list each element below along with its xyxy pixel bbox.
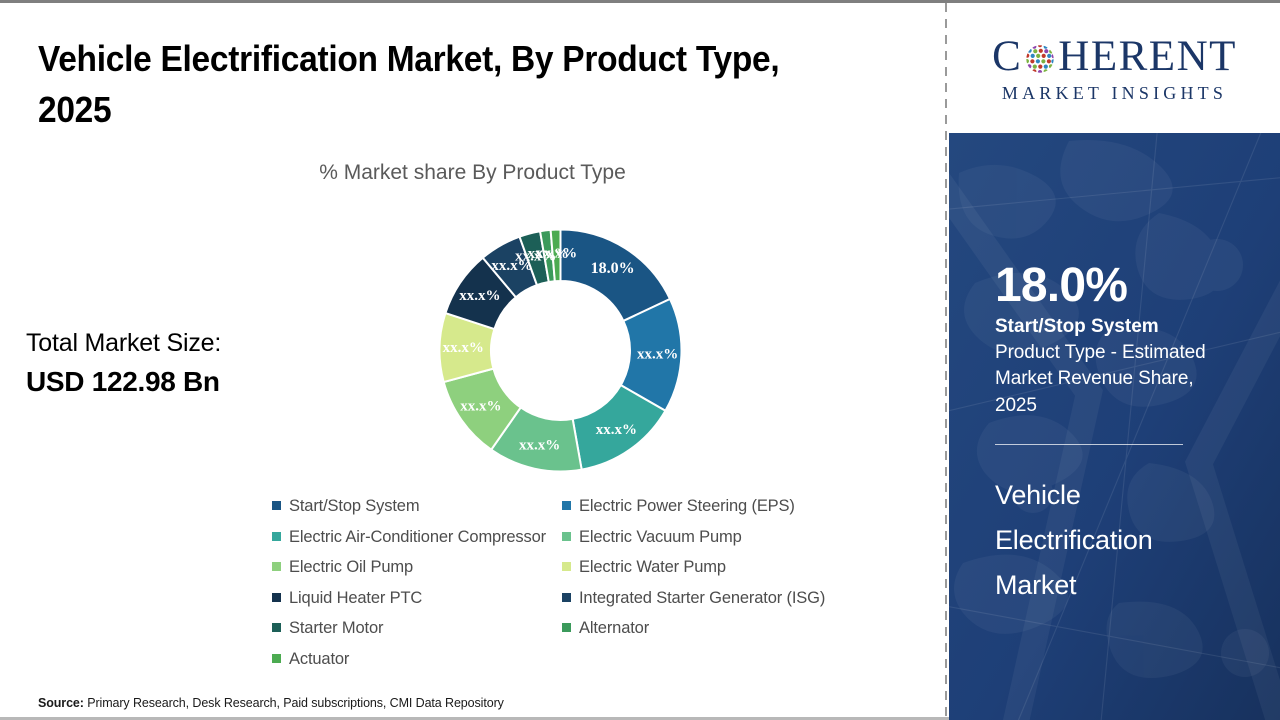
legend-item[interactable]: Alternator <box>562 620 892 637</box>
legend-swatch-icon <box>562 501 571 510</box>
legend-swatch-icon <box>562 562 571 571</box>
infographic-root: Vehicle Electrification Market, By Produ… <box>0 0 1280 720</box>
legend-item-label: Electric Power Steering (EPS) <box>579 498 795 515</box>
source-text: Primary Research, Desk Research, Paid su… <box>84 696 504 710</box>
legend-row: Liquid Heater PTCIntegrated Starter Gene… <box>272 590 892 621</box>
donut-slice-label: xx.x% <box>519 437 560 453</box>
legend-item[interactable]: Liquid Heater PTC <box>272 590 562 607</box>
donut-slice-label: xx.x% <box>460 398 501 414</box>
highlight-market-name: Vehicle Electrification Market <box>995 473 1250 607</box>
donut-slice-label: xx.x% <box>536 245 577 261</box>
legend-item-label: Alternator <box>579 620 649 637</box>
logo-subtitle: MARKET INSIGHTS <box>1002 84 1227 102</box>
legend-swatch-icon <box>272 501 281 510</box>
market-name-line1: Vehicle <box>995 473 1250 518</box>
legend-item-label: Electric Air-Conditioner Compressor <box>289 529 546 546</box>
legend-item[interactable]: Electric Water Pump <box>562 559 892 576</box>
logo-word-post: HERENT <box>1058 35 1237 78</box>
total-market-size: Total Market Size: USD 122.98 Bn <box>26 325 221 400</box>
brand-panel: C <box>949 3 1280 720</box>
legend-swatch-icon <box>272 532 281 541</box>
legend-item[interactable]: Actuator <box>272 651 562 668</box>
source-label: Source: <box>38 696 84 710</box>
donut-slice-label: xx.x% <box>443 340 484 356</box>
legend-swatch-icon <box>272 593 281 602</box>
highlight-description-line2: Market Revenue Share, <box>995 366 1250 393</box>
market-name-line3: Market <box>995 563 1250 608</box>
chart-legend: Start/Stop SystemElectric Power Steering… <box>272 498 892 682</box>
company-logo: C <box>949 3 1280 133</box>
legend-item[interactable]: Electric Vacuum Pump <box>562 529 892 546</box>
highlight-description-line1: Product Type - Estimated <box>995 340 1250 367</box>
legend-row: Start/Stop SystemElectric Power Steering… <box>272 498 892 529</box>
logo-wordmark: C <box>992 35 1237 78</box>
legend-item-label: Electric Vacuum Pump <box>579 529 742 546</box>
total-market-size-value: USD 122.98 Bn <box>26 363 221 401</box>
legend-item[interactable]: Electric Oil Pump <box>272 559 562 576</box>
legend-row: Actuator <box>272 651 892 682</box>
legend-item[interactable]: Starter Motor <box>272 620 562 637</box>
donut-chart-svg: 18.0%xx.x%xx.x%xx.x%xx.x%xx.x%xx.x%xx.x%… <box>438 228 683 473</box>
globe-icon <box>1023 41 1057 75</box>
donut-chart: 18.0%xx.x%xx.x%xx.x%xx.x%xx.x%xx.x%xx.x%… <box>438 228 683 473</box>
legend-swatch-icon <box>272 654 281 663</box>
legend-item-label: Integrated Starter Generator (ISG) <box>579 590 825 607</box>
legend-item[interactable]: Integrated Starter Generator (ISG) <box>562 590 892 607</box>
legend-item[interactable]: Electric Power Steering (EPS) <box>562 498 892 515</box>
donut-slice-label: 18.0% <box>591 260 635 277</box>
legend-item-label: Start/Stop System <box>289 498 419 515</box>
legend-item-label: Electric Water Pump <box>579 559 726 576</box>
source-note: Source: Primary Research, Desk Research,… <box>38 696 504 710</box>
legend-swatch-icon <box>562 532 571 541</box>
legend-item-label: Liquid Heater PTC <box>289 590 422 607</box>
donut-slice-label: xx.x% <box>637 346 678 362</box>
legend-row: Electric Air-Conditioner CompressorElect… <box>272 529 892 560</box>
highlight-description: Product Type - Estimated Market Revenue … <box>995 340 1250 421</box>
chart-panel: Vehicle Electrification Market, By Produ… <box>0 3 945 717</box>
logo-word-pre: C <box>992 35 1022 78</box>
legend-item-label: Starter Motor <box>289 620 383 637</box>
legend-item-label: Electric Oil Pump <box>289 559 413 576</box>
legend-swatch-icon <box>562 623 571 632</box>
chart-subtitle: % Market share By Product Type <box>0 161 945 185</box>
legend-row: Electric Oil PumpElectric Water Pump <box>272 559 892 590</box>
legend-swatch-icon <box>562 593 571 602</box>
legend-swatch-icon <box>272 562 281 571</box>
highlight-panel: 18.0% Start/Stop System Product Type - E… <box>949 133 1280 720</box>
donut-slice-label: xx.x% <box>459 288 500 304</box>
legend-item[interactable]: Start/Stop System <box>272 498 562 515</box>
highlight-rule <box>995 444 1183 445</box>
legend-item[interactable]: Electric Air-Conditioner Compressor <box>272 529 562 546</box>
highlight-segment-name: Start/Stop System <box>995 314 1250 340</box>
highlight-content: 18.0% Start/Stop System Product Type - E… <box>995 261 1250 608</box>
highlight-stat: 18.0% <box>995 261 1250 312</box>
donut-slice-label: xx.x% <box>596 422 637 438</box>
total-market-size-label: Total Market Size: <box>26 325 221 363</box>
legend-swatch-icon <box>272 623 281 632</box>
legend-row: Starter MotorAlternator <box>272 620 892 651</box>
panel-divider <box>945 3 947 717</box>
legend-item-label: Actuator <box>289 651 349 668</box>
highlight-description-line3: 2025 <box>995 393 1250 420</box>
page-title: Vehicle Electrification Market, By Produ… <box>38 33 856 135</box>
market-name-line2: Electrification <box>995 518 1250 563</box>
